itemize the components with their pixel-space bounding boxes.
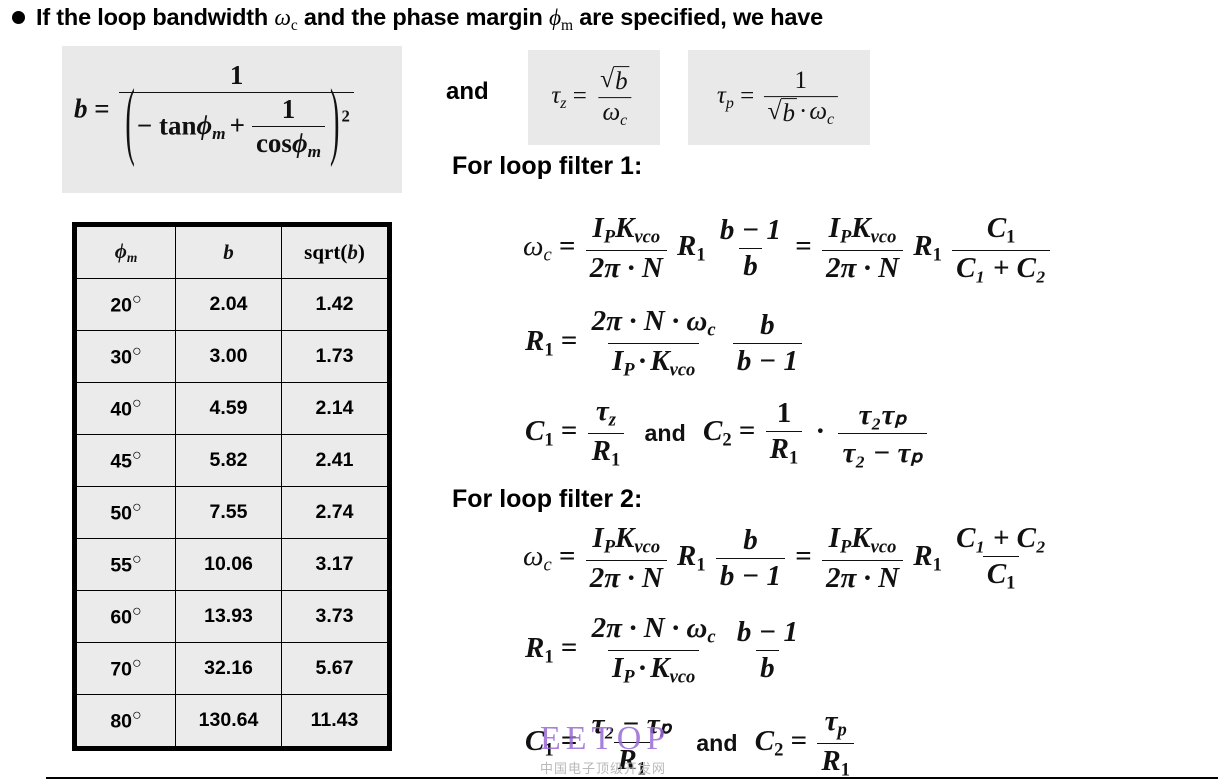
phase-margin-value: 30: [110, 347, 132, 369]
cell-sqrt-b-value: 11.43: [282, 695, 390, 749]
lf1-R1-f1-den: IP·Kvco: [608, 343, 699, 382]
lf1-wc-f3-den: 2π · N: [822, 250, 903, 285]
degree-symbol: ○: [132, 551, 142, 568]
lf1-wc-frac4: C1 C₁ + C₂: [952, 212, 1050, 285]
lf2-wc-f3-num: IPKvco: [825, 522, 901, 560]
tau-p-denominator: √b·ωc: [763, 96, 838, 129]
table-row: 50○7.552.74: [75, 487, 390, 539]
cell-b-value: 13.93: [176, 591, 282, 643]
caption-loop-filter-2: For loop filter 2:: [452, 485, 642, 514]
lf2-R1-frac2: b − 1 b: [733, 616, 802, 685]
lf1-wc-eq1: =: [559, 230, 576, 262]
formula-b-den-plus: +: [226, 110, 249, 140]
equation-lf1-omega-c: ωc = IPKvco 2π · N R1 b − 1 b = IPKvco 2…: [523, 212, 1053, 285]
lf1-and-label: and: [635, 420, 696, 446]
degree-symbol: ○: [132, 447, 142, 464]
lf1-R1-lhs: R1: [525, 325, 554, 357]
lf2-wc-frac3: IPKvco 2π · N: [822, 522, 903, 595]
tau-z-numerator: √b: [596, 66, 634, 97]
tau-p-numerator: 1: [791, 67, 812, 96]
table-row: 20○2.041.42: [75, 279, 390, 331]
cell-sqrt-b-value: 1.73: [282, 331, 390, 383]
lf2-C2-den: R1: [817, 743, 854, 782]
lf2-wc-frac2: b b − 1: [716, 524, 785, 593]
cell-b-value: 32.16: [176, 643, 282, 695]
formula-b-main-fraction: 1 (− tanϕm+1cosϕm)2: [119, 60, 353, 162]
lf1-wc-R1: R1: [677, 230, 706, 262]
lf1-C2-f2-num: τ₂τₚ: [855, 397, 911, 433]
lf2-wc-lhs: ωc: [523, 540, 552, 572]
lf1-wc-R1-b: R1: [913, 230, 942, 262]
lf1-C2-eq: =: [739, 415, 756, 447]
lf2-wc-eq1: =: [559, 540, 576, 572]
equation-lf1-R1: R1 = 2π · N · ωc IP·Kvco b b − 1: [525, 305, 805, 381]
cell-phase-margin: 45○: [75, 435, 176, 487]
table-body: ϕm b sqrt(b) 20○2.041.4230○3.001.7340○4.…: [75, 225, 390, 749]
lf2-R1-frac1: 2π · N · ωc IP·Kvco: [588, 612, 720, 688]
table-header-phi: ϕm: [75, 225, 176, 279]
cell-sqrt-b-value: 3.73: [282, 591, 390, 643]
cell-b-value: 2.04: [176, 279, 282, 331]
lf2-wc-R1: R1: [677, 540, 706, 572]
phase-margin-value: 80: [110, 711, 132, 733]
lf1-wc-f2-num: b − 1: [716, 214, 785, 248]
degree-symbol: ○: [132, 343, 142, 360]
lf2-wc-f1-den: 2π · N: [586, 560, 667, 595]
caption-loop-filter-1: For loop filter 1:: [452, 152, 642, 181]
formula-b-den-term1: − tan: [137, 110, 197, 140]
table-header-b: b: [176, 225, 282, 279]
omega-c-symbol: ωc: [274, 5, 297, 31]
tau-z-denominator: ωc: [599, 97, 632, 130]
lf2-C1-eq: =: [561, 725, 578, 757]
lf2-wc-frac1: IPKvco 2π · N: [586, 522, 667, 595]
equation-lf1-capacitors: C1 = τz R1 and C2 = 1 R1 · τ₂τₚ τ₂ − τₚ: [525, 395, 930, 471]
table-row: 60○13.933.73: [75, 591, 390, 643]
cell-sqrt-b-value: 1.42: [282, 279, 390, 331]
lf1-wc-f4-num: C1: [983, 212, 1020, 250]
lf1-R1-f2-num: b: [756, 309, 779, 343]
cell-phase-margin: 70○: [75, 643, 176, 695]
bullet-dot-icon: [12, 11, 25, 24]
lf2-C1-frac: τ₂ − τₚ R1: [588, 706, 676, 781]
phase-margin-value: 60: [110, 607, 132, 629]
formula-b-equals: =: [94, 93, 109, 123]
equation-lf2-R1: R1 = 2π · N · ωc IP·Kvco b − 1 b: [525, 612, 805, 688]
equation-lf2-capacitors: C1 = τ₂ − τₚ R1 and C2 = τp R1: [525, 705, 857, 781]
table-header-row: ϕm b sqrt(b): [75, 225, 390, 279]
phase-margin-value: 50: [110, 503, 132, 525]
cell-b-value: 3.00: [176, 331, 282, 383]
formula-box-tau-p: τp = 1 √b·ωc: [688, 50, 870, 145]
cell-b-value: 7.55: [176, 487, 282, 539]
cell-sqrt-b-value: 2.74: [282, 487, 390, 539]
formula-b-numerator: 1: [226, 60, 248, 92]
formula-b-content: b = 1 (− tanϕm+1cosϕm)2: [74, 60, 357, 162]
cell-b-value: 130.64: [176, 695, 282, 749]
lf1-R1-f1-num: 2π · N · ωc: [588, 305, 720, 343]
cell-b-value: 10.06: [176, 539, 282, 591]
tau-p-fraction: 1 √b·ωc: [763, 67, 838, 129]
lf1-wc-eq2: =: [795, 230, 812, 262]
degree-symbol: ○: [132, 395, 142, 412]
lf1-R1-frac1: 2π · N · ωc IP·Kvco: [588, 305, 720, 381]
lf1-C2-f2-den: τ₂ − τₚ: [838, 433, 926, 470]
slide-page: If the loop bandwidth ωc and the phase m…: [0, 0, 1220, 784]
degree-symbol: ○: [132, 655, 142, 672]
lf1-C1-lhs: C1: [525, 415, 554, 447]
phase-margin-value: 40: [110, 399, 132, 421]
lf2-C1-lhs: C1: [525, 725, 554, 757]
lf1-C1-eq: =: [561, 415, 578, 447]
table-row: 45○5.822.41: [75, 435, 390, 487]
formula-tau-z-content: τz = √b ωc: [551, 66, 636, 130]
tau-z-fraction: √b ωc: [596, 66, 634, 130]
right-paren: ): [330, 75, 339, 173]
table-row: 80○130.6411.43: [75, 695, 390, 749]
phi-m-symbol: ϕm: [549, 5, 573, 31]
lf1-C2-frac2: τ₂τₚ τ₂ − τₚ: [838, 397, 926, 470]
degree-symbol: ○: [132, 603, 142, 620]
cell-phase-margin: 60○: [75, 591, 176, 643]
lf1-wc-frac2: b − 1 b: [716, 214, 785, 283]
formula-box-tau-z: τz = √b ωc: [528, 50, 660, 145]
lf2-wc-f2-num: b: [739, 524, 762, 558]
phase-margin-value: 70: [110, 659, 132, 681]
lf2-and-label: and: [686, 730, 747, 756]
lf2-R1-f1-num: 2π · N · ωc: [588, 612, 720, 650]
degree-symbol: ○: [132, 707, 142, 724]
tau-z-equals: =: [573, 82, 587, 109]
phase-margin-table: ϕm b sqrt(b) 20○2.041.4230○3.001.7340○4.…: [72, 222, 392, 751]
formula-b-den-phi: ϕm: [197, 110, 226, 140]
cell-b-value: 5.82: [176, 435, 282, 487]
headline-text: If the loop bandwidth ωc and the phase m…: [36, 2, 823, 41]
lf1-wc-f1-den: 2π · N: [586, 250, 667, 285]
formula-b-lhs: b: [74, 93, 88, 123]
lf2-wc-eq2: =: [795, 540, 812, 572]
lf2-wc-frac4: C₁ + C₂ C1: [952, 522, 1050, 595]
lf2-wc-f1-num: IPKvco: [588, 522, 664, 560]
table-row: 30○3.001.73: [75, 331, 390, 383]
cell-sqrt-b-value: 2.41: [282, 435, 390, 487]
table-row: 40○4.592.14: [75, 383, 390, 435]
cell-phase-margin: 50○: [75, 487, 176, 539]
lf2-R1-lhs: R1: [525, 632, 554, 664]
lf1-C2-frac1: 1 R1: [766, 397, 803, 470]
sqrtb-header-text: sqrt(b): [304, 240, 365, 264]
lf2-C2-eq: =: [791, 725, 808, 757]
formula-tau-p-content: τp = 1 √b·ωc: [717, 67, 841, 129]
lf1-wc-frac1: IPKvco 2π · N: [586, 212, 667, 285]
cell-b-value: 4.59: [176, 383, 282, 435]
bottom-divider: [46, 777, 1218, 779]
lf2-C2-num: τp: [821, 705, 851, 743]
lf2-R1-eq: =: [561, 632, 578, 664]
table-header-sqrtb: sqrt(b): [282, 225, 390, 279]
lf1-wc-lhs: ωc: [523, 230, 552, 262]
lf2-C2-frac: τp R1: [817, 705, 854, 781]
tau-p-equals: =: [740, 82, 754, 109]
table-row: 55○10.063.17: [75, 539, 390, 591]
lf2-wc-f4-den: C1: [983, 556, 1020, 595]
phi-header-symbol: ϕ: [115, 239, 127, 263]
lf1-wc-frac3: IPKvco 2π · N: [822, 212, 903, 285]
lf1-C2-lhs: C2: [703, 415, 732, 447]
cell-phase-margin: 30○: [75, 331, 176, 383]
lf1-wc-f2-den: b: [739, 248, 762, 283]
table-row: 70○32.165.67: [75, 643, 390, 695]
inner-numerator: 1: [278, 94, 300, 126]
phase-margin-value: 45: [110, 451, 132, 473]
left-paren: (: [125, 75, 134, 173]
lf2-C1-den: R1: [614, 742, 651, 781]
headline-bullet-line: If the loop bandwidth ωc and the phase m…: [8, 2, 1213, 36]
lf1-R1-f2-den: b − 1: [733, 343, 802, 378]
lf1-C2-dot: ·: [813, 415, 829, 447]
cell-phase-margin: 80○: [75, 695, 176, 749]
lf2-R1-f1-den: IP·Kvco: [608, 650, 699, 689]
cell-phase-margin: 55○: [75, 539, 176, 591]
cell-phase-margin: 40○: [75, 383, 176, 435]
lf2-C2-lhs: C2: [755, 725, 784, 757]
formula-box-b: b = 1 (− tanϕm+1cosϕm)2: [62, 46, 402, 193]
cell-phase-margin: 20○: [75, 279, 176, 331]
formula-b-inner-fraction: 1cosϕm: [252, 94, 325, 162]
degree-symbol: ○: [132, 499, 142, 516]
formula-b-exponent: 2: [341, 107, 349, 126]
lf1-wc-f4-den: C₁ + C₂: [952, 250, 1050, 285]
lf1-wc-f3-num: IPKvco: [825, 212, 901, 250]
inner-denominator: cosϕm: [252, 126, 325, 162]
lf2-wc-f4-num: C₁ + C₂: [952, 522, 1050, 556]
headline-part-2: and the phase margin: [298, 4, 550, 30]
radical-icon-2: √: [767, 98, 781, 124]
headline-part-1: If the loop bandwidth: [36, 4, 274, 30]
cell-sqrt-b-value: 3.17: [282, 539, 390, 591]
cell-sqrt-b-value: 2.14: [282, 383, 390, 435]
phase-margin-value: 55: [110, 555, 132, 577]
headline-part-3: are specified, we have: [573, 4, 823, 30]
lf1-wc-f1-num: IPKvco: [588, 212, 664, 250]
lf1-R1-frac2: b b − 1: [733, 309, 802, 378]
lf2-wc-R1-b: R1: [913, 540, 942, 572]
lf1-R1-eq: =: [561, 325, 578, 357]
phase-margin-value: 20: [110, 295, 132, 317]
lf2-wc-f2-den: b − 1: [716, 558, 785, 593]
cell-sqrt-b-value: 5.67: [282, 643, 390, 695]
lf1-C1-num: τz: [592, 395, 620, 433]
lf1-C2-f1-den: R1: [766, 431, 803, 470]
lf1-C1-frac: τz R1: [588, 395, 625, 471]
degree-symbol: ○: [132, 291, 142, 308]
lf2-wc-f3-den: 2π · N: [822, 560, 903, 595]
lf2-C1-num: τ₂ − τₚ: [588, 706, 676, 742]
phi-header-sub: m: [127, 250, 137, 265]
lf2-R1-f2-den: b: [756, 650, 779, 685]
formula-b-denominator: (− tanϕm+1cosϕm)2: [119, 92, 353, 162]
lf1-C1-den: R1: [588, 433, 625, 472]
tau-z-lhs: τz: [551, 82, 566, 109]
equation-lf2-omega-c: ωc = IPKvco 2π · N R1 b b − 1 = IPKvco 2…: [523, 522, 1053, 595]
and-label-top: and: [446, 78, 489, 106]
radical-icon: √: [600, 66, 614, 92]
lf1-C2-f1-num: 1: [773, 397, 796, 431]
lf2-R1-f2-num: b − 1: [733, 616, 802, 650]
tau-p-lhs: τp: [717, 82, 734, 109]
